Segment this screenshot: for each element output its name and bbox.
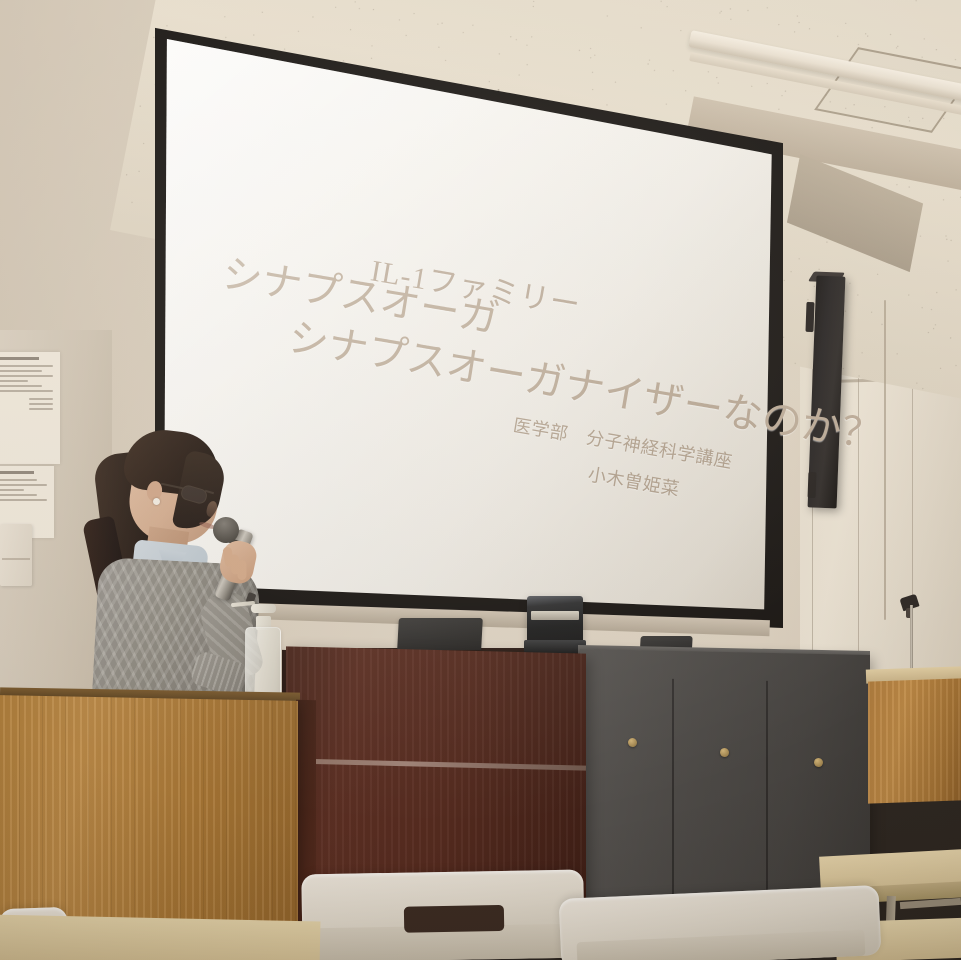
cabinet-handle[interactable]	[720, 748, 729, 757]
hand-sanitizer-bottle	[245, 627, 281, 699]
chair-back-lower	[577, 930, 866, 960]
audience-chair[interactable]	[301, 870, 584, 960]
audience-chair[interactable]	[559, 885, 882, 960]
audience-desk	[0, 915, 320, 960]
cabinet-handle[interactable]	[814, 758, 823, 767]
left-desk-front	[0, 695, 298, 926]
cabinet-handle[interactable]	[628, 738, 637, 747]
left-desk-grain	[0, 695, 298, 926]
right-desk-front	[868, 678, 961, 803]
finger	[237, 560, 246, 580]
document-camera-base	[524, 640, 586, 653]
document-camera-slot	[531, 611, 579, 620]
earring-icon	[153, 498, 160, 505]
right-desk-grain	[868, 678, 961, 803]
laptop-icon[interactable]	[397, 618, 483, 650]
chair-handle-cutout	[404, 905, 504, 933]
lecture-hall-photo: IL‐1ファミリー シナプスオーガ シナプスオーガナイザーなのか？ 医学部 分子…	[0, 0, 961, 960]
sanitizer-pump-icon[interactable]	[251, 604, 276, 613]
